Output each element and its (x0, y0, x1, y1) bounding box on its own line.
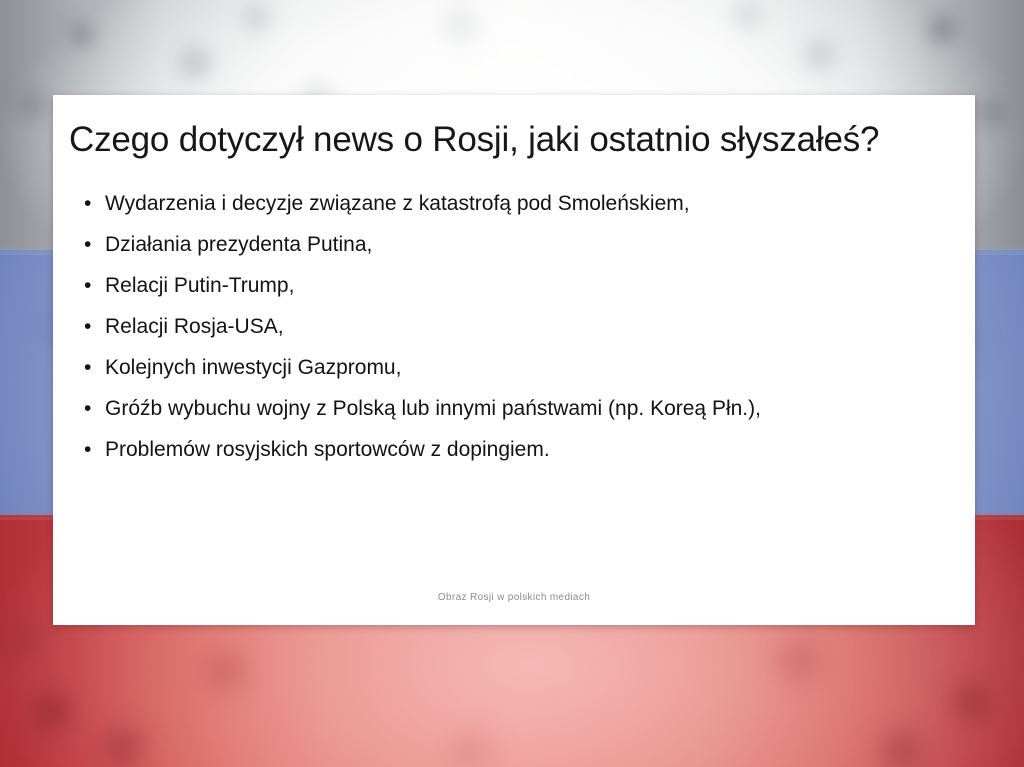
bullet-marker-icon: • (84, 183, 91, 224)
list-item-label: Wydarzenia i decyzje związane z katastro… (105, 192, 690, 215)
list-item-label: Działania prezydenta Putina, (105, 233, 372, 256)
list-item: • Relacji Putin-Trump, (78, 265, 958, 306)
list-item: • Wydarzenia i decyzje związane z katast… (78, 183, 958, 224)
list-item: • Kolejnych inwestycji Gazpromu, (78, 347, 958, 388)
list-item: • Problemów rosyjskich sportowców z dopi… (78, 429, 958, 470)
list-item-label: Problemów rosyjskich sportowców z doping… (105, 438, 550, 461)
slide-canvas: Czego dotyczył news o Rosji, jaki ostatn… (0, 0, 1024, 767)
slide-content-card: Czego dotyczył news o Rosji, jaki ostatn… (53, 95, 975, 625)
list-item-label: Relacji Rosja-USA, (105, 315, 284, 338)
page-title: Czego dotyczył news o Rosji, jaki ostatn… (69, 120, 959, 160)
bullet-marker-icon: • (84, 224, 91, 265)
bullet-list: • Wydarzenia i decyzje związane z katast… (78, 183, 958, 470)
list-item-label: Kolejnych inwestycji Gazpromu, (105, 356, 401, 379)
bullet-marker-icon: • (84, 388, 91, 429)
list-item-label: Relacji Putin-Trump, (105, 274, 294, 297)
list-item: • Gróźb wybuchu wojny z Polską lub innym… (78, 388, 958, 429)
bullet-marker-icon: • (84, 306, 91, 347)
bullet-marker-icon: • (84, 429, 91, 470)
list-item-label: Gróźb wybuchu wojny z Polską lub innymi … (105, 397, 761, 420)
list-item: • Relacji Rosja-USA, (78, 306, 958, 347)
list-item: • Działania prezydenta Putina, (78, 224, 958, 265)
bullet-marker-icon: • (84, 347, 91, 388)
slide-footer-caption: Obraz Rosji w polskich mediach (53, 592, 975, 603)
bullet-marker-icon: • (84, 265, 91, 306)
